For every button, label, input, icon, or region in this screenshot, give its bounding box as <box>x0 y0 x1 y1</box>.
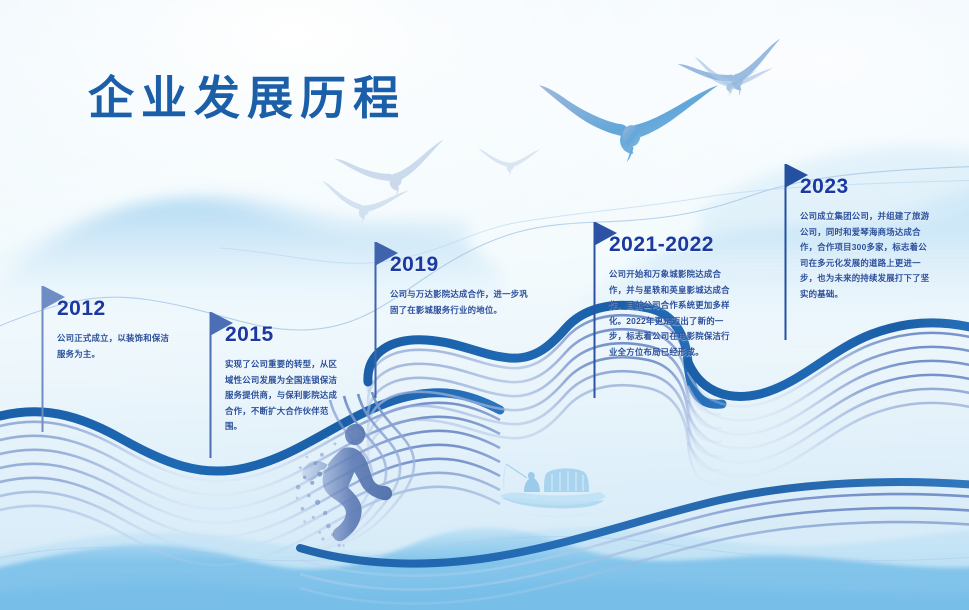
milestone-year: 2012 <box>57 297 190 321</box>
milestone-description: 公司开始和万象城影院达成合作，并与星轶和英皇影城达成合作，目前公司合作系统更加多… <box>609 267 731 360</box>
milestone-year: 2021-2022 <box>609 233 752 257</box>
milestone-2021-2022[interactable]: 2021-2022 公司开始和万象城影院达成合作，并与星轶和英皇影城达成合作，目… <box>592 218 752 360</box>
milestone-description: 公司成立集团公司，并组建了旅游公司，同时和爱琴海商场达成合作，合作项目300多家… <box>800 209 932 302</box>
flag-icon <box>40 282 66 432</box>
milestone-year: 2019 <box>390 253 533 277</box>
milestone-year: 2015 <box>225 323 360 347</box>
milestone-description: 公司正式成立，以装饰和保洁服务为主。 <box>57 331 175 362</box>
runner-icon <box>296 424 392 547</box>
milestone-2015[interactable]: 2015 实现了公司重要的转型，从区域性公司发展为全国连锁保洁服务提供商，与保利… <box>208 308 360 435</box>
fishing-boat-icon <box>500 464 606 518</box>
milestone-year: 2023 <box>800 175 953 199</box>
flag-icon <box>373 238 399 398</box>
flag-icon <box>783 160 809 340</box>
milestone-2023[interactable]: 2023 公司成立集团公司，并组建了旅游公司，同时和爱琴海商场达成合作，合作项目… <box>783 160 953 302</box>
milestone-description: 实现了公司重要的转型，从区域性公司发展为全国连锁保洁服务提供商，与保利影院达成合… <box>225 357 345 435</box>
milestone-2019[interactable]: 2019 公司与万达影院达成合作，进一步巩固了在影城服务行业的地位。 <box>373 238 533 318</box>
flag-icon <box>208 308 234 458</box>
timeline-poster: 企业发展历程 2012 公司正式成立，以装饰和保洁服务为主。 2015 实现了公… <box>0 0 969 610</box>
milestone-2012[interactable]: 2012 公司正式成立，以装饰和保洁服务为主。 <box>40 282 190 362</box>
flag-icon <box>592 218 618 398</box>
milestone-description: 公司与万达影院达成合作，进一步巩固了在影城服务行业的地位。 <box>390 287 528 318</box>
page-title: 企业发展历程 <box>88 62 406 128</box>
